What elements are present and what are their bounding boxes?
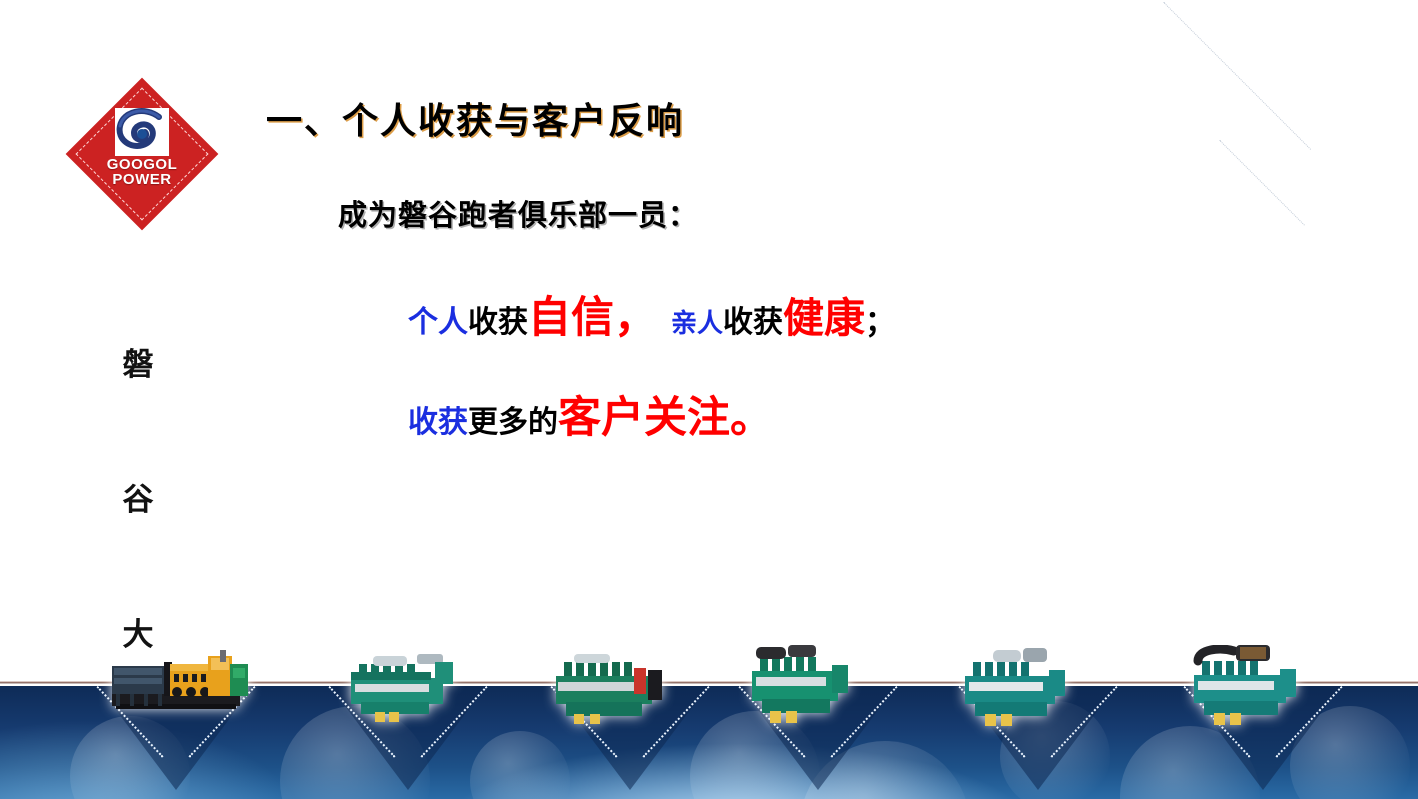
body-segment: 客户关注。: [558, 395, 773, 442]
presentation-slide: GOOGOL POWER 磐 谷 大 马 力 发 动 机 一、个人收获与客户反响…: [0, 0, 1418, 799]
body-segment: 个人: [408, 306, 468, 339]
body-segment: 亲人: [671, 309, 723, 338]
logo-brand-line-1: GOOGOL: [68, 157, 216, 172]
product-image-diesel-engine-teal-4: [955, 648, 1080, 730]
logo-brand-line-2: POWER: [68, 172, 216, 187]
body-line-2: 收获更多的客户关注。: [408, 383, 773, 445]
body-line-1: 个人收获自信，亲人收获健康；: [408, 283, 895, 345]
body-segment: 健康: [783, 295, 865, 341]
body-segment: 自信，: [528, 295, 657, 342]
slide-subheading: 成为磐谷跑者俱乐部一员：: [338, 192, 698, 234]
body-segment: 收获: [408, 406, 468, 439]
vertical-name-char: 磐: [108, 342, 168, 387]
product-image-diesel-engine-teal-3: [742, 645, 862, 730]
body-segment: 收获: [468, 306, 528, 339]
product-image-diesel-engine-teal-1: [345, 650, 465, 728]
corner-decoration: [1158, 0, 1418, 260]
logo-brand-text: GOOGOL POWER: [68, 157, 216, 187]
dotted-diagonal-line-2: [1219, 140, 1305, 226]
product-image-generator-set-orange: [104, 648, 254, 726]
body-segment: ；: [865, 306, 895, 339]
spiral-galaxy-icon: [115, 108, 169, 156]
body-segment: 收获: [723, 306, 783, 339]
slide-title: 一、个人收获与客户反响: [266, 92, 684, 144]
company-logo: GOOGOL POWER: [68, 80, 216, 228]
vertical-name-char: 谷: [108, 477, 168, 522]
product-image-diesel-engine-teal-5: [1180, 645, 1315, 730]
dotted-diagonal-line-1: [1163, 2, 1311, 150]
product-image-diesel-engine-teal-2: [548, 650, 678, 730]
body-segment: 更多的: [468, 406, 558, 439]
